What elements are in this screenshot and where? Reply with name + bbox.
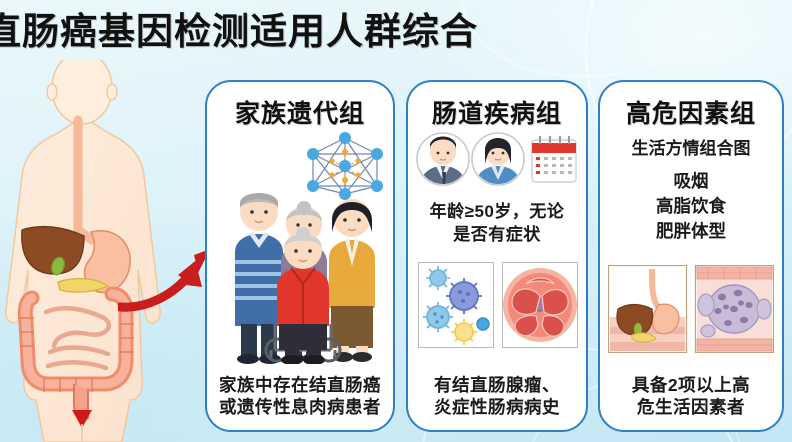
avatars-and-calendar-row: [416, 130, 580, 188]
panel-subtitle: 生活方情组合图: [632, 136, 751, 161]
risk-factor-item: 吸烟: [656, 169, 726, 194]
histology-cross-section-illustration: [697, 267, 772, 351]
panel-title: 家族遗代组: [235, 94, 365, 130]
panel-body-line: 有结直肠腺瘤、: [414, 374, 580, 396]
panel-body-line: 具备2项以上高: [606, 374, 776, 396]
liver-and-histology-images: [608, 265, 774, 353]
risk-factor-item: 高脂饮食: [656, 194, 726, 219]
risk-factor-list: 吸烟 高脂饮食 肥胖体型: [656, 169, 726, 244]
panel-bowel-disease[interactable]: 肠道疾病组: [406, 80, 588, 432]
colon-cross-section-illustration: [503, 268, 577, 342]
curved-red-arrow-icon: [118, 245, 218, 315]
panel-body-line: 或遗传性息肉病患者: [213, 396, 387, 418]
family-group-illustration: [213, 174, 391, 364]
panel-mid-line: 年龄≥50岁，无论: [408, 200, 586, 223]
panel-mid-line: 是否有症状: [408, 223, 586, 246]
panel-body-line: 家族中存在结直肠癌: [213, 374, 387, 396]
virus-and-colon-images: [418, 262, 578, 348]
panel-title: 肠道疾病组: [432, 94, 562, 130]
risk-factor-item: 肥胖体型: [656, 219, 726, 244]
panel-body-text: 有结直肠腺瘤、 炎症性肠病病史: [408, 374, 586, 418]
panel-family-hereditary[interactable]: 家族遗代组: [205, 80, 395, 432]
page-title: 直肠癌基因检测适用人群综合: [0, 8, 478, 54]
female-avatar-icon: [472, 133, 524, 188]
panel-body-text: 具备2项以上高 危生活因素者: [600, 374, 782, 418]
panel-body-line: 炎症性肠病病史: [414, 396, 580, 418]
panel-title: 高危因素组: [626, 94, 756, 130]
panel-high-risk-factors[interactable]: 高危因素组 生活方情组合图 吸烟 高脂饮食 肥胖体型: [598, 80, 784, 432]
panel-body-line: 危生活因素者: [606, 396, 776, 418]
panel-mid-text: 年龄≥50岁，无论 是否有症状: [408, 200, 586, 246]
panel-body-text: 家族中存在结直肠癌 或遗传性息肉病患者: [207, 374, 393, 418]
calendar-icon: [532, 136, 576, 182]
male-avatar-icon: [417, 133, 469, 188]
poster-canvas: 直肠癌基因检测适用人群综合: [0, 0, 792, 442]
